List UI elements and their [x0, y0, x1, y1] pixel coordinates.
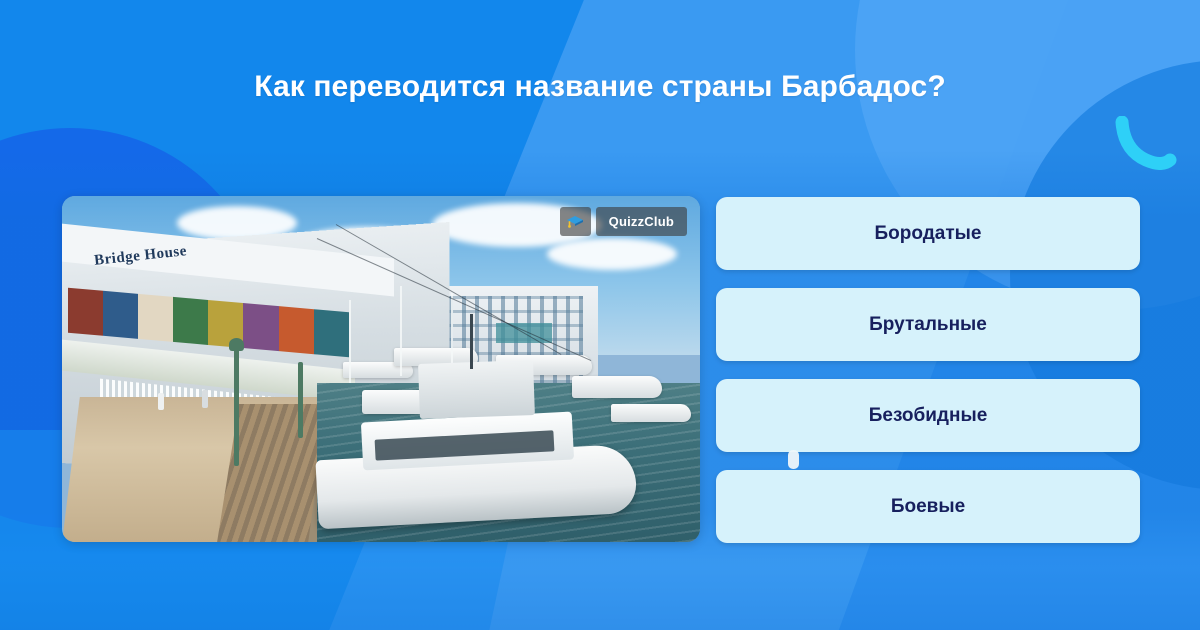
photo-person	[158, 393, 164, 410]
answer-option-2-label: Брутальные	[869, 314, 987, 336]
graduation-cap-icon	[560, 207, 591, 236]
marina-photo: Bridge House	[62, 196, 700, 542]
photo-lamp-head	[229, 338, 244, 351]
answer-option-2[interactable]: Брутальные	[716, 288, 1140, 361]
page-title: Как переводится название страны Барбадос…	[0, 70, 1200, 104]
photo-boat	[611, 404, 691, 422]
photo-foreground-yacht-flybridge	[418, 360, 535, 419]
answer-option-1-label: Бородатые	[875, 223, 982, 245]
answer-option-4[interactable]: Боевые	[716, 470, 1140, 543]
photo-mast	[400, 286, 402, 376]
photo-cloud	[547, 238, 677, 270]
photo-outrigger	[470, 314, 473, 369]
answer-option-1[interactable]: Бородатые	[716, 197, 1140, 270]
swoosh-icon	[1112, 116, 1178, 170]
watermark-badge: QuizzClub	[560, 207, 687, 236]
watermark-label: QuizzClub	[596, 207, 687, 236]
answer-option-3-label: Безобидные	[869, 405, 988, 427]
quiz-card: Как переводится название страны Барбадос…	[0, 0, 1200, 630]
photo-mast	[349, 300, 351, 383]
scroll-indicator-nub[interactable]	[788, 450, 799, 469]
answer-list: Бородатые Брутальные Безобидные Боевые	[716, 197, 1140, 543]
photo-lamp-post	[298, 362, 303, 438]
photo-lamp-post	[234, 348, 239, 466]
question-image: Bridge House	[62, 196, 700, 542]
background-bottom-strip	[0, 558, 1200, 630]
answer-option-3[interactable]: Безобидные	[716, 379, 1140, 452]
photo-person	[202, 390, 208, 408]
photo-boat	[572, 376, 662, 398]
answer-option-4-label: Боевые	[891, 496, 965, 518]
